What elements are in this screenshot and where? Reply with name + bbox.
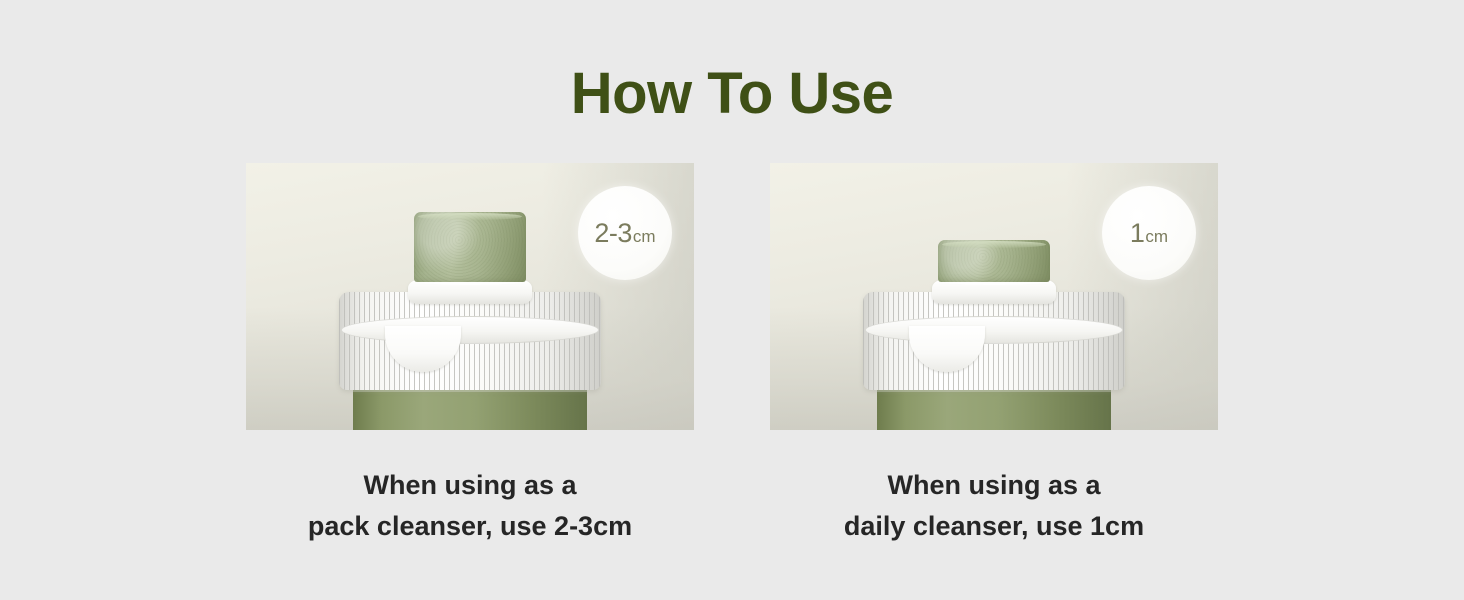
bottle-nozzle (408, 280, 532, 304)
measurement-unit: cm (1145, 228, 1168, 245)
measurement-unit: cm (633, 228, 656, 245)
bottle-body (353, 386, 587, 430)
bottle-cap-top (865, 316, 1123, 344)
bottle-nozzle (932, 280, 1056, 304)
caption-line-1: When using as a (770, 465, 1218, 506)
product-photo-pack-cleanser: 2-3 cm (246, 163, 694, 430)
cleanser-bottle (339, 262, 601, 430)
usage-panel-daily-cleanser: 1 cm When using as a daily cleanser, use… (770, 163, 1218, 546)
usage-caption-daily-cleanser: When using as a daily cleanser, use 1cm (770, 465, 1218, 546)
cream-blob (938, 240, 1050, 282)
product-photo-daily-cleanser: 1 cm (770, 163, 1218, 430)
cream-blob (414, 212, 526, 282)
caption-line-2: pack cleanser, use 2-3cm (246, 506, 694, 547)
how-to-use-section: How To Use 2-3 cm (0, 0, 1464, 600)
cleanser-bottle (863, 262, 1125, 430)
caption-line-2: daily cleanser, use 1cm (770, 506, 1218, 547)
usage-panels: 2-3 cm When using as a pack cleanser, us… (246, 163, 1218, 543)
measurement-value: 1 (1130, 220, 1145, 247)
bottle-body (877, 386, 1111, 430)
bottle-cap-top (341, 316, 599, 344)
measurement-value: 2-3 (594, 220, 632, 247)
measurement-badge: 1 cm (1102, 186, 1196, 280)
measurement-badge: 2-3 cm (578, 186, 672, 280)
measurement-badge-text: 1 cm (1130, 220, 1168, 247)
caption-line-1: When using as a (246, 465, 694, 506)
usage-panel-pack-cleanser: 2-3 cm When using as a pack cleanser, us… (246, 163, 694, 546)
usage-caption-pack-cleanser: When using as a pack cleanser, use 2-3cm (246, 465, 694, 546)
measurement-badge-text: 2-3 cm (594, 220, 655, 247)
page-title: How To Use (0, 64, 1464, 125)
